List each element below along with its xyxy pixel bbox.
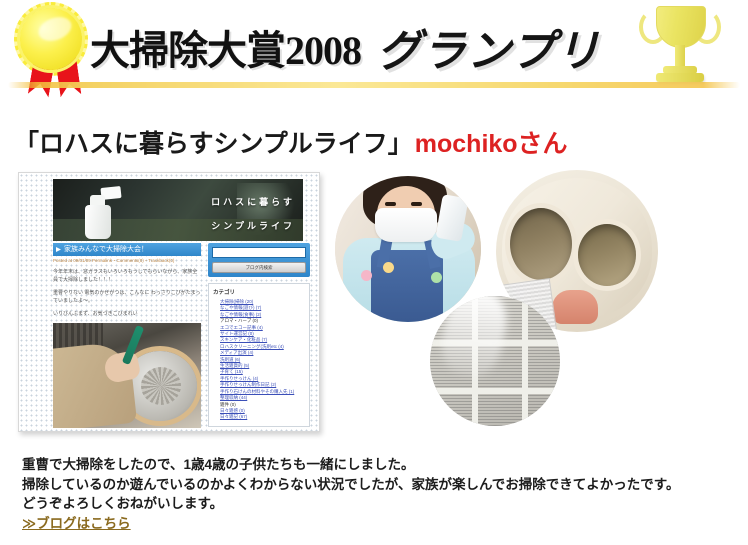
trophy-cup (656, 6, 706, 48)
photo-vent-blades (141, 367, 181, 405)
award-title-text: 大掃除大賞2008 (90, 18, 361, 76)
blog-sidebar: ブログ内検索 カテゴリ 大掃除(掃除 (20) なごや情報(遊び) (7) なご… (208, 243, 310, 427)
search-button[interactable]: ブログ内検索 (212, 262, 306, 273)
search-input[interactable] (212, 247, 306, 258)
photo-shirt-pattern (431, 272, 442, 283)
page-header: 大掃除大賞2008 グランプリ (0, 0, 748, 100)
photo-child-eye-right (411, 202, 422, 206)
blog-headline: 「ロハスに暮らすシンプルライフ」mochikoさん (14, 124, 714, 160)
photo-shirt-pattern (383, 262, 394, 273)
category-heading: カテゴリ (213, 288, 306, 296)
category-item[interactable]: 日々雑記 (67) (220, 414, 306, 420)
photo-powder-on-newspaper-grid (430, 296, 560, 426)
gold-divider (8, 82, 740, 88)
blog-screenshot-thumbnail[interactable]: ロハスに暮らす シンプルライフ 家族みんなで大掃除大会！ Posted at 0… (18, 172, 320, 432)
award-page: 大掃除大賞2008 グランプリ 「ロハスに暮らすシンプルライフ」mochikoさ… (0, 0, 748, 545)
category-list: 大掃除(掃除 (20) なごや情報(遊び) (7) なごや情報(食事) (2) … (213, 299, 306, 421)
blog-category-panel: カテゴリ 大掃除(掃除 (20) なごや情報(遊び) (7) なごや情報(食事)… (208, 283, 310, 427)
medal-gloss (35, 13, 74, 45)
blog-name-text: 「ロハスに暮らすシンプルライフ」 (14, 130, 413, 158)
post-paragraph: 今年年末は、窓ガラスもいろいろもうしてもらいながら、家族全員で大掃除しました！！… (53, 268, 201, 284)
trophy-icon (634, 4, 726, 86)
photo-shirt-pattern (361, 270, 372, 281)
photo-jar-opening-right (578, 224, 636, 286)
blog-post-meta: Posted at 09/01/09 Permalink・Comments(0)… (53, 258, 201, 264)
trophy-stem (675, 45, 685, 67)
post-paragraph: いりびんぶまず、お気づきこびまれい (53, 310, 201, 318)
caption-block: 重曹で大掃除をしたので、1歳4歳の子供たちも一緒にしました。 掃除しているのか遊… (22, 455, 738, 533)
blog-search-box: ブログ内検索 (208, 243, 310, 277)
blog-post-column: 家族みんなで大掃除大会！ Posted at 09/01/09 Permalin… (53, 243, 201, 428)
grand-prix-text: グランプリ (377, 15, 601, 79)
author-name-text: mochikoさん (415, 130, 568, 158)
bottle-body (85, 205, 111, 239)
spray-bottle-icon (81, 185, 115, 239)
banner-text-line1: ロハスに暮らす (211, 195, 295, 208)
photo-child-face-mask (375, 208, 437, 242)
photo-jar-opening-left (510, 208, 572, 280)
caption-line-1: 重曹で大掃除をしたので、1歳4歳の子供たちも一緒にしました。 (22, 455, 738, 475)
post-paragraph: 重曹やりない 電気のかぜがつは、こんなに わっさりこびがたまっていましたよ～。 (53, 289, 201, 305)
banner-text-line2: シンプルライフ (211, 219, 295, 232)
blog-link[interactable]: ≫ブログはこちら (22, 516, 131, 531)
page-title: 大掃除大賞2008 グランプリ (90, 16, 650, 78)
trophy-base-lower (656, 73, 704, 82)
blog-post-title[interactable]: 家族みんなで大掃除大会！ (53, 243, 201, 256)
photo-grid-line-vertical (522, 296, 528, 426)
blog-banner: ロハスに暮らす シンプルライフ (53, 179, 303, 241)
caption-line-3: どうぞよろしくおねがいします。 (22, 494, 738, 514)
screenshot-content: ロハスに暮らす シンプルライフ 家族みんなで大掃除大会！ Posted at 0… (28, 179, 310, 425)
blog-post-photo-cleaning-fan (53, 323, 201, 428)
medal-disc (20, 8, 82, 70)
photo-grid-line-horizontal (430, 388, 560, 394)
photo-child-eye-left (385, 202, 396, 206)
blog-post-body: 今年年末は、窓ガラスもいろいろもうしてもらいながら、家族全員で大掃除しました！！… (53, 268, 201, 318)
caption-line-2: 掃除しているのか遊んでいるのかよくわからない状況でしたが、家族が楽しんでお掃除で… (22, 475, 738, 495)
